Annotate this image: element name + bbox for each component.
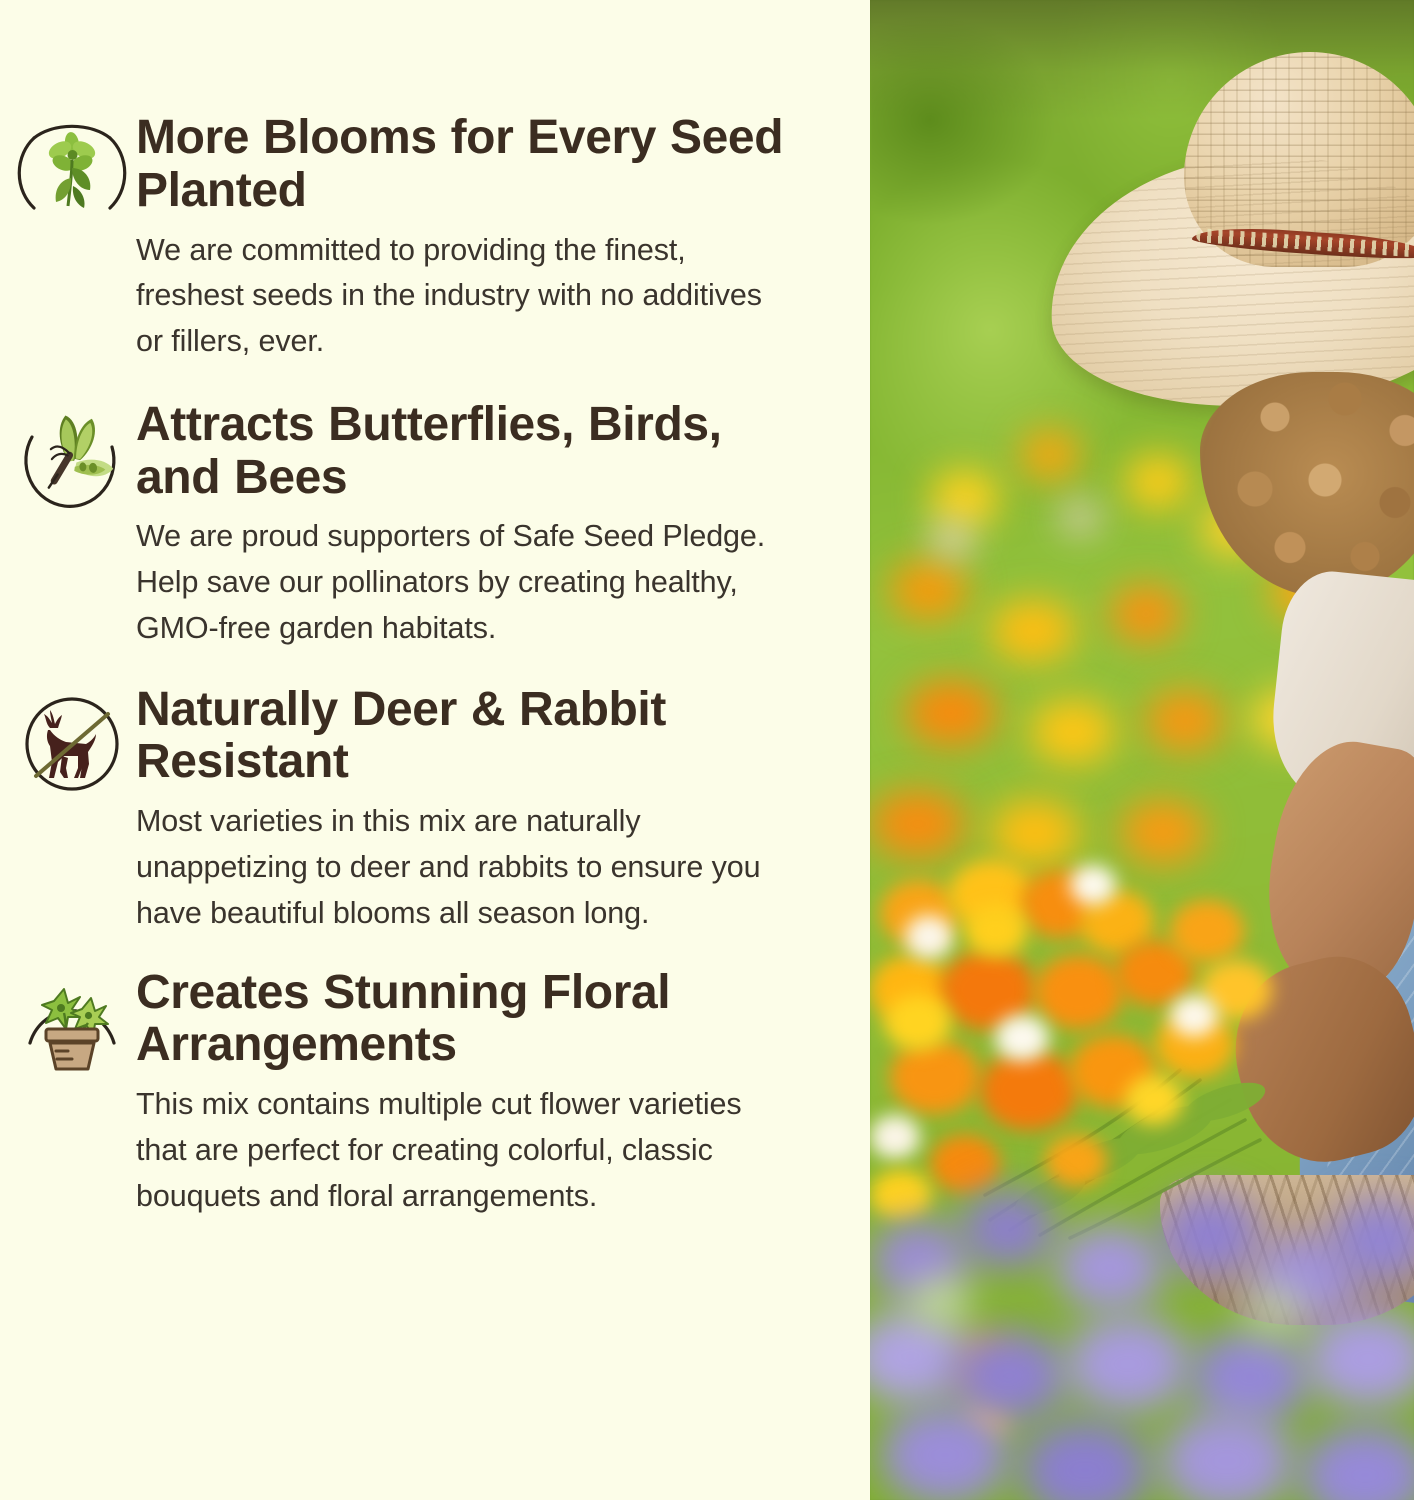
butterfly-icon [8, 399, 136, 527]
benefit-description-1: We are committed to providing the finest… [136, 228, 796, 365]
benefit-description-2: We are proud supporters of Safe Seed Ple… [136, 514, 796, 651]
benefit-title-3: Naturally Deer & Rabbit Resistant [136, 684, 796, 790]
benefit-description-4: This mix contains multiple cut flower va… [136, 1082, 796, 1219]
benefit-title-1: More Blooms for Every Seed Planted [136, 112, 796, 218]
benefit-description-3: Most varieties in this mix are naturally… [136, 799, 796, 936]
benefits-panel: More Blooms for Every Seed Planted We ar… [0, 0, 870, 1500]
no-deer-icon [8, 684, 136, 812]
benefit-text-4: Creates Stunning Floral Arrangements Thi… [136, 967, 836, 1220]
benefit-item-1: More Blooms for Every Seed Planted We ar… [0, 112, 870, 365]
benefit-text-1: More Blooms for Every Seed Planted We ar… [136, 112, 836, 365]
photo-foreground-purple-flowers [870, 1180, 1414, 1500]
product-benefits-page: More Blooms for Every Seed Planted We ar… [0, 0, 1414, 1500]
flower-sprout-icon [8, 112, 136, 240]
benefit-item-4: Creates Stunning Floral Arrangements Thi… [0, 967, 870, 1220]
lifestyle-photo [870, 0, 1414, 1500]
benefit-item-2: Attracts Butterflies, Birds, and Bees We… [0, 399, 870, 652]
benefit-text-3: Naturally Deer & Rabbit Resistant Most v… [136, 684, 836, 937]
benefit-title-4: Creates Stunning Floral Arrangements [136, 967, 796, 1073]
potted-flowers-icon [8, 967, 136, 1095]
benefit-item-3: Naturally Deer & Rabbit Resistant Most v… [0, 684, 870, 937]
benefit-title-2: Attracts Butterflies, Birds, and Bees [136, 399, 796, 505]
benefit-text-2: Attracts Butterflies, Birds, and Bees We… [136, 399, 836, 652]
